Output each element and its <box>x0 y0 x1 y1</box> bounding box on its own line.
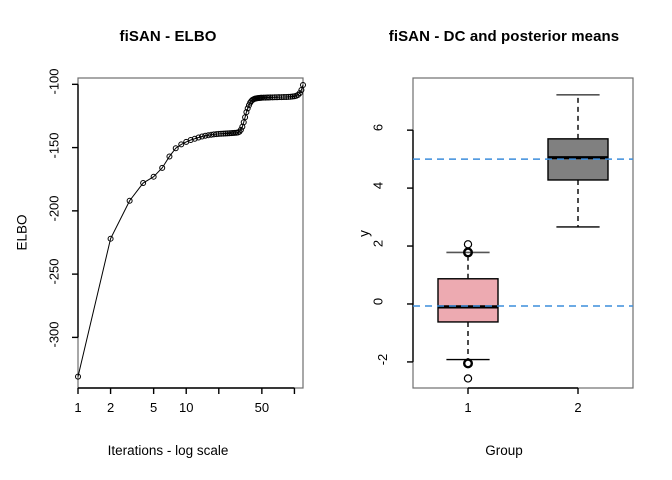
boxplot-ytick-label: 2 <box>371 240 386 247</box>
elbo-ytick-label: -200 <box>47 195 62 221</box>
boxplot-yaxis-title: y <box>357 194 372 274</box>
elbo-xtick-label: 1 <box>74 400 81 415</box>
boxplot-xtick-label: 2 <box>574 400 581 415</box>
elbo-xtick-label: 50 <box>255 400 269 415</box>
boxplot-ytick-label: 6 <box>371 124 386 131</box>
elbo-xtick-label: 10 <box>179 400 193 415</box>
boxplot-xtick-label: 1 <box>464 400 471 415</box>
boxplot-ytick-label: 4 <box>371 182 386 189</box>
elbo-xaxis-title: Iterations - log scale <box>0 443 336 458</box>
elbo-ytick-label: -250 <box>47 259 62 285</box>
elbo-ytick-label: -150 <box>47 132 62 158</box>
elbo-xtick-label: 2 <box>107 400 114 415</box>
elbo-ytick-label: -100 <box>47 69 62 95</box>
boxplot-ytick-label: -2 <box>375 354 390 366</box>
boxplot-ytick-label: 0 <box>371 298 386 305</box>
elbo-ytick-label: -300 <box>47 322 62 348</box>
boxplot-plot-area <box>336 0 672 480</box>
elbo-xtick-label: 5 <box>150 400 157 415</box>
boxplot-xaxis-title: Group <box>336 443 672 458</box>
figure-canvas: fiSAN - ELBO -100 -150 -200 -250 -300 1 … <box>0 0 672 480</box>
panel-elbo: fiSAN - ELBO -100 -150 -200 -250 -300 1 … <box>0 0 336 480</box>
panel-boxplots: fiSAN - DC and posterior means 6 4 2 0 -… <box>336 0 672 480</box>
elbo-yaxis-title: ELBO <box>15 173 30 293</box>
